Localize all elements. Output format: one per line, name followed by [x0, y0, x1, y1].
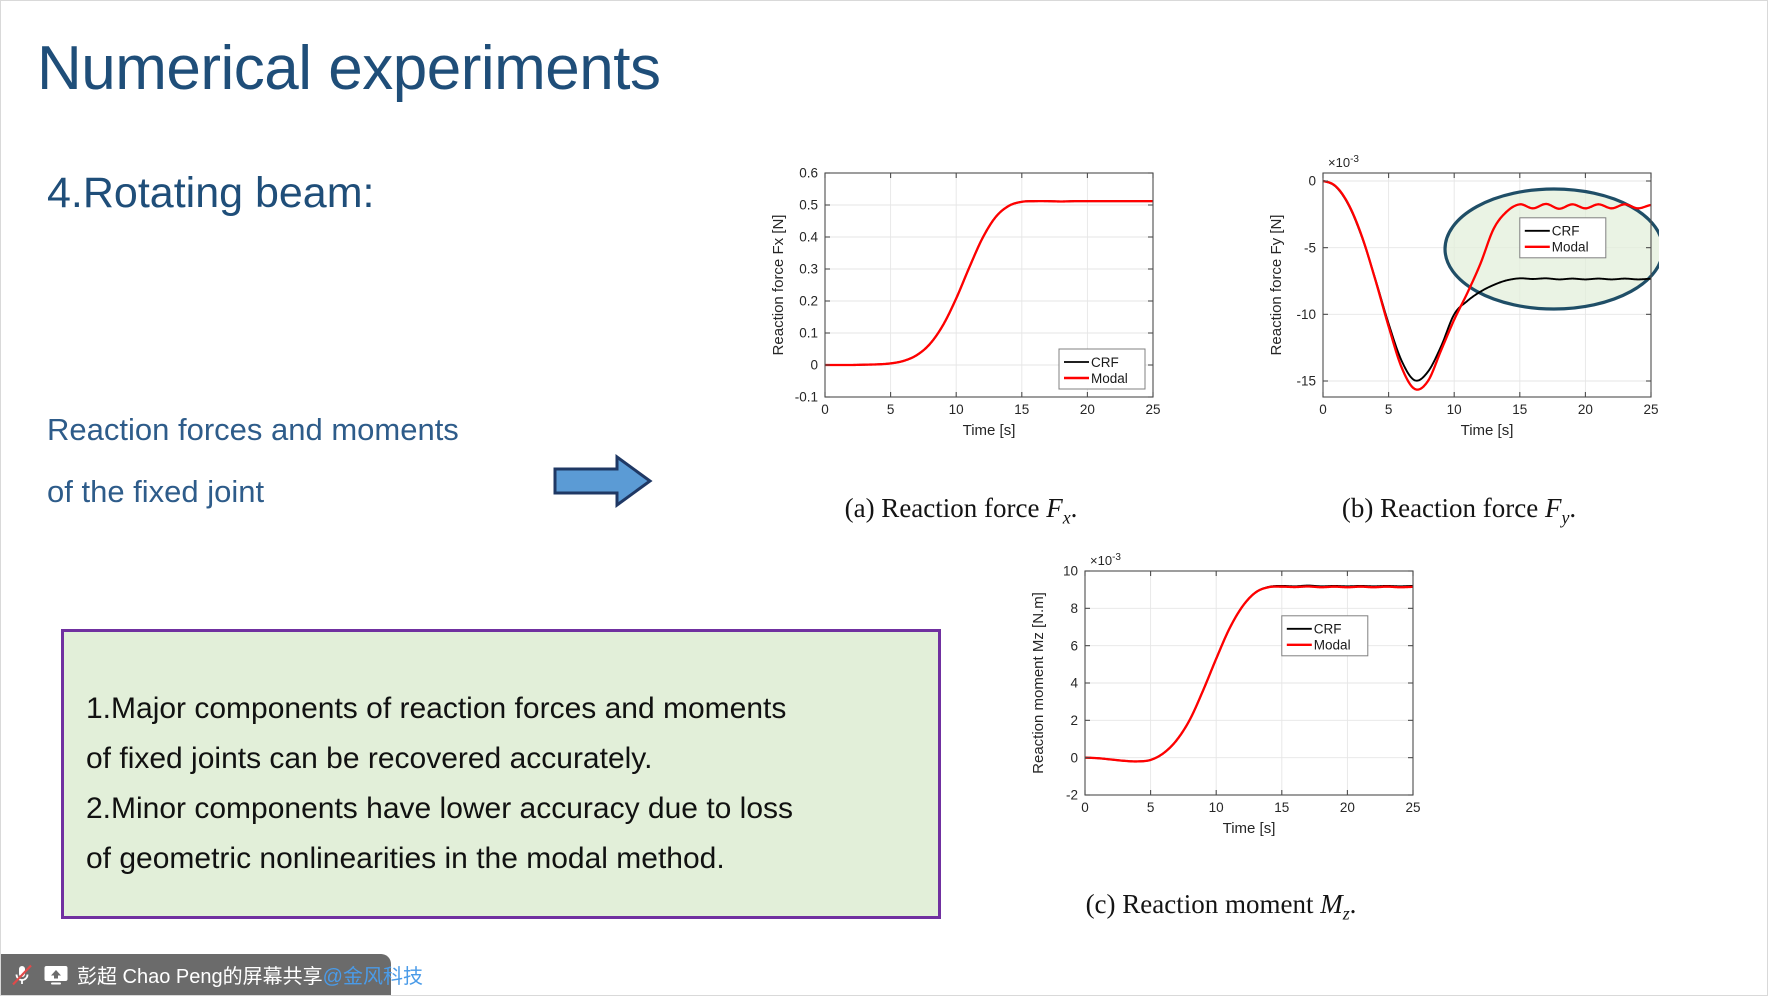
svg-text:4: 4: [1070, 676, 1078, 691]
svg-text:CRF: CRF: [1314, 622, 1342, 637]
svg-text:Time [s]: Time [s]: [1223, 820, 1276, 837]
conclusion-line-2: of fixed joints can be recovered accurat…: [86, 734, 926, 784]
svg-text:Reaction force Fy [N]: Reaction force Fy [N]: [1268, 215, 1285, 356]
svg-text:0: 0: [810, 358, 818, 373]
microphone-muted-icon[interactable]: [9, 962, 35, 988]
svg-text:10: 10: [1063, 564, 1078, 579]
conclusion-line-1: 1.Major components of reaction forces an…: [86, 684, 926, 734]
svg-text:-2: -2: [1066, 788, 1078, 803]
conclusion-line-3: 2.Minor components have lower accuracy d…: [86, 784, 926, 834]
svg-text:Time [s]: Time [s]: [1461, 422, 1514, 439]
svg-text:0: 0: [821, 402, 829, 417]
svg-text:25: 25: [1643, 402, 1658, 417]
chart-reaction-moment-mz: 0510152025-20246810×10-3Time [s]Reaction…: [1021, 549, 1421, 849]
svg-text:-5: -5: [1304, 240, 1316, 255]
taskbar-handle: @金风科技: [323, 966, 423, 988]
svg-text:15: 15: [1014, 402, 1029, 417]
svg-text:15: 15: [1512, 402, 1527, 417]
svg-text:25: 25: [1405, 800, 1420, 815]
svg-text:CRF: CRF: [1552, 224, 1580, 239]
svg-text:0: 0: [1319, 402, 1327, 417]
svg-text:0.1: 0.1: [799, 326, 818, 341]
screen-share-icon[interactable]: [43, 964, 69, 986]
svg-text:15: 15: [1274, 800, 1289, 815]
figure-caption-c: (c) Reaction moment Mz.: [1021, 889, 1421, 924]
svg-text:20: 20: [1080, 402, 1095, 417]
svg-text:0: 0: [1308, 174, 1316, 189]
svg-text:10: 10: [949, 402, 964, 417]
svg-text:Modal: Modal: [1314, 638, 1351, 653]
section-subtitle: 4.Rotating beam:: [47, 169, 374, 218]
svg-text:0.3: 0.3: [799, 262, 818, 277]
screen-share-taskbar[interactable]: 彭超 Chao Peng的屏幕共享@金风科技: [1, 954, 391, 995]
svg-text:5: 5: [1385, 402, 1393, 417]
svg-text:Time [s]: Time [s]: [963, 422, 1016, 439]
svg-text:5: 5: [887, 402, 895, 417]
figure-caption-b: (b) Reaction force Fy.: [1259, 493, 1659, 528]
svg-text:0.2: 0.2: [799, 294, 818, 309]
svg-text:-15: -15: [1296, 374, 1316, 389]
svg-text:×10-3: ×10-3: [1090, 552, 1121, 568]
svg-text:6: 6: [1070, 638, 1078, 653]
conclusions-text: 1.Major components of reaction forces an…: [86, 684, 926, 884]
figure-caption-a: (a) Reaction force Fx.: [761, 493, 1161, 528]
svg-text:Modal: Modal: [1091, 371, 1128, 386]
svg-text:-0.1: -0.1: [795, 390, 818, 405]
svg-text:0.5: 0.5: [799, 198, 818, 213]
svg-text:0.6: 0.6: [799, 166, 818, 181]
description-block: Reaction forces and moments of the fixed…: [47, 399, 459, 523]
svg-text:8: 8: [1070, 601, 1078, 616]
description-line-1: Reaction forces and moments: [47, 399, 459, 461]
svg-text:×10-3: ×10-3: [1328, 154, 1359, 170]
svg-text:5: 5: [1147, 800, 1155, 815]
svg-text:0.4: 0.4: [799, 230, 818, 245]
taskbar-label: 彭超 Chao Peng的屏幕共享@金风科技: [77, 960, 423, 989]
conclusion-line-4: of geometric nonlinearities in the modal…: [86, 834, 926, 884]
presentation-slide: Numerical experiments 4.Rotating beam: R…: [0, 0, 1768, 996]
svg-text:Reaction moment Mz [N.m]: Reaction moment Mz [N.m]: [1030, 592, 1047, 774]
svg-text:0: 0: [1070, 750, 1078, 765]
right-arrow-icon: [553, 453, 653, 509]
svg-text:-10: -10: [1296, 307, 1316, 322]
page-title: Numerical experiments: [37, 33, 661, 104]
svg-text:Modal: Modal: [1552, 240, 1589, 255]
svg-text:2: 2: [1070, 713, 1078, 728]
svg-text:0: 0: [1081, 800, 1089, 815]
description-line-2: of the fixed joint: [47, 461, 459, 523]
svg-text:20: 20: [1578, 402, 1593, 417]
svg-text:10: 10: [1447, 402, 1462, 417]
svg-text:CRF: CRF: [1091, 355, 1119, 370]
svg-text:20: 20: [1340, 800, 1355, 815]
conclusions-box: 1.Major components of reaction forces an…: [61, 629, 941, 919]
svg-text:10: 10: [1209, 800, 1224, 815]
svg-text:25: 25: [1145, 402, 1160, 417]
chart-reaction-force-fx: 0510152025-0.100.10.20.30.40.50.6Time [s…: [761, 151, 1161, 451]
svg-text:Reaction force Fx [N]: Reaction force Fx [N]: [770, 215, 787, 356]
chart-reaction-force-fy: 0510152025-15-10-50×10-3Time [s]Reaction…: [1259, 151, 1659, 451]
